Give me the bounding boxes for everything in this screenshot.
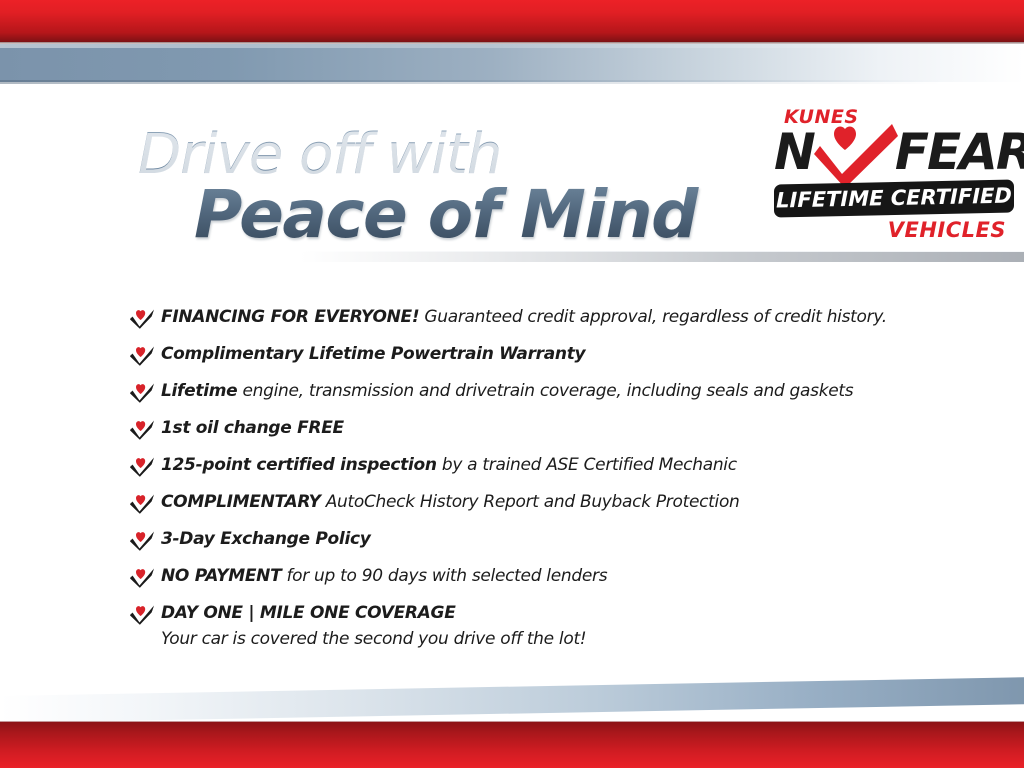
bottom-red-band [0, 722, 1024, 768]
list-item-text: Lifetime engine, transmission and drivet… [161, 380, 853, 402]
list-item: DAY ONE | MILE ONE COVERAGE [130, 602, 930, 626]
logo-wordmark-fear: FEAR [895, 123, 1024, 181]
logo-suffix-text: VEHICLES [888, 218, 1006, 242]
logo-wordmark: NOOFEAR [772, 126, 1016, 184]
list-item: 125-point certified inspection by a trai… [130, 454, 930, 478]
list-item-text: DAY ONE | MILE ONE COVERAGE [161, 602, 456, 624]
list-item-rest: for up to 90 days with selected lenders [281, 566, 607, 586]
logo-certified-band-text: LIFETIME CERTIFIED [774, 179, 1014, 217]
list-item: NO PAYMENT for up to 90 days with select… [130, 565, 930, 589]
red-check-heart-icon [812, 122, 898, 188]
list-item-bold: NO PAYMENT [161, 566, 281, 586]
headline-divider [300, 252, 1024, 262]
list-item: FINANCING FOR EVERYONE! Guaranteed credi… [130, 306, 930, 330]
list-item: Lifetime engine, transmission and drivet… [130, 380, 930, 404]
list-item-bold: COMPLIMENTARY [161, 492, 321, 512]
list-item-text: COMPLIMENTARY AutoCheck History Report a… [161, 491, 740, 513]
headline-line-2: Peace of Mind [194, 180, 758, 250]
list-item: Complimentary Lifetime Powertrain Warran… [130, 343, 930, 367]
list-item-text: FINANCING FOR EVERYONE! Guaranteed credi… [161, 306, 887, 328]
check-heart-bullet-icon [130, 345, 156, 367]
list-item-subtext: Your car is covered the second you drive… [161, 628, 930, 651]
top-red-band [0, 0, 1024, 42]
list-item-bold: FINANCING FOR EVERYONE! [161, 307, 419, 327]
check-heart-bullet-icon [130, 567, 156, 589]
check-heart-bullet-icon [130, 308, 156, 330]
top-steel-band [0, 44, 1024, 82]
check-heart-bullet-icon [130, 456, 156, 478]
bottom-steel-band [0, 677, 1024, 723]
headline-block: Drive off with Peace of Mind [138, 126, 758, 250]
list-item-rest: by a trained ASE Certified Mechanic [437, 455, 737, 475]
check-heart-bullet-icon [130, 382, 156, 404]
list-item-rest: Guaranteed credit approval, regardless o… [419, 307, 887, 327]
list-item: 1st oil change FREE [130, 417, 930, 441]
list-item-rest: AutoCheck History Report and Buyback Pro… [321, 492, 740, 512]
top-steel-band-shadow [0, 80, 1024, 84]
list-item-bold: Lifetime [161, 381, 237, 401]
list-item: 3-Day Exchange Policy [130, 528, 930, 552]
benefits-list: FINANCING FOR EVERYONE! Guaranteed credi… [130, 306, 930, 664]
kunes-no-fear-logo: KUNES NOOFEAR LIFETIME CERTIFIED VEHICLE… [772, 106, 1016, 248]
list-item-text: 3-Day Exchange Policy [161, 528, 371, 550]
list-item-bold: Complimentary Lifetime Powertrain Warran… [161, 344, 585, 364]
check-heart-bullet-icon [130, 493, 156, 515]
list-item-bold: 125-point certified inspection [161, 455, 437, 475]
list-item-text: 1st oil change FREE [161, 417, 344, 439]
check-heart-bullet-icon [130, 419, 156, 441]
list-item: COMPLIMENTARY AutoCheck History Report a… [130, 491, 930, 515]
list-item-bold: 1st oil change FREE [161, 418, 344, 438]
list-item-rest: engine, transmission and drivetrain cove… [237, 381, 853, 401]
list-item-bold: DAY ONE | MILE ONE COVERAGE [161, 603, 456, 623]
list-item-text: NO PAYMENT for up to 90 days with select… [161, 565, 607, 587]
check-heart-bullet-icon [130, 530, 156, 552]
list-item-text: 125-point certified inspection by a trai… [161, 454, 737, 476]
list-item-bold: 3-Day Exchange Policy [161, 529, 371, 549]
logo-certified-band: LIFETIME CERTIFIED [774, 179, 1014, 217]
list-item-text: Complimentary Lifetime Powertrain Warran… [161, 343, 585, 365]
top-steel-band-highlight [0, 44, 1024, 48]
logo-wordmark-n: N [774, 123, 814, 181]
promo-banner: Drive off with Peace of Mind KUNES NOOFE… [0, 0, 1024, 768]
check-heart-bullet-icon [130, 604, 156, 626]
